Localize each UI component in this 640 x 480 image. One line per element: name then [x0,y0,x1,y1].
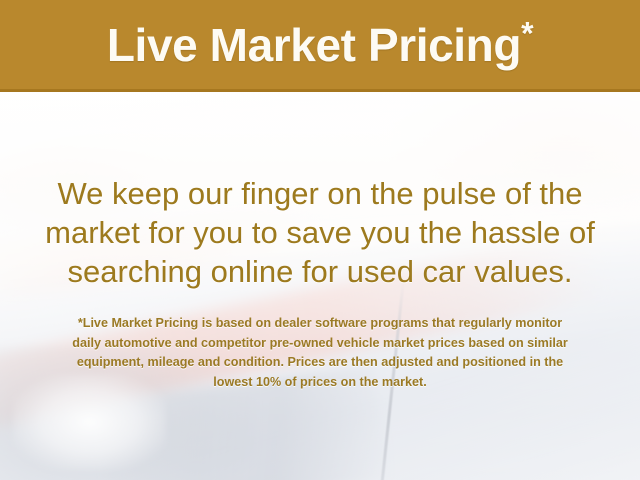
headline-paragraph: We keep our finger on the pulse of the m… [0,174,640,291]
disclaimer-line: daily automotive and competitor pre-owne… [26,334,614,354]
disclaimer-line: *Live Market Pricing is based on dealer … [26,314,614,334]
page-title: Live Market Pricing* [107,22,533,68]
headline-line: market for you to save you the hassle of [24,213,616,252]
disclaimer-line: lowest 10% of prices on the market. [26,373,614,393]
live-market-pricing-slide: Live Market Pricing* We keep our finger … [0,0,640,480]
headline-line: searching online for used car values. [24,252,616,291]
slide-content: We keep our finger on the pulse of the m… [0,92,640,480]
page-title-asterisk: * [521,15,533,51]
header-band: Live Market Pricing* [0,0,640,92]
headline-line: We keep our finger on the pulse of the [24,174,616,213]
disclaimer-line: equipment, mileage and condition. Prices… [26,353,614,373]
disclaimer-paragraph: *Live Market Pricing is based on dealer … [0,314,640,392]
page-title-text: Live Market Pricing [107,19,521,71]
